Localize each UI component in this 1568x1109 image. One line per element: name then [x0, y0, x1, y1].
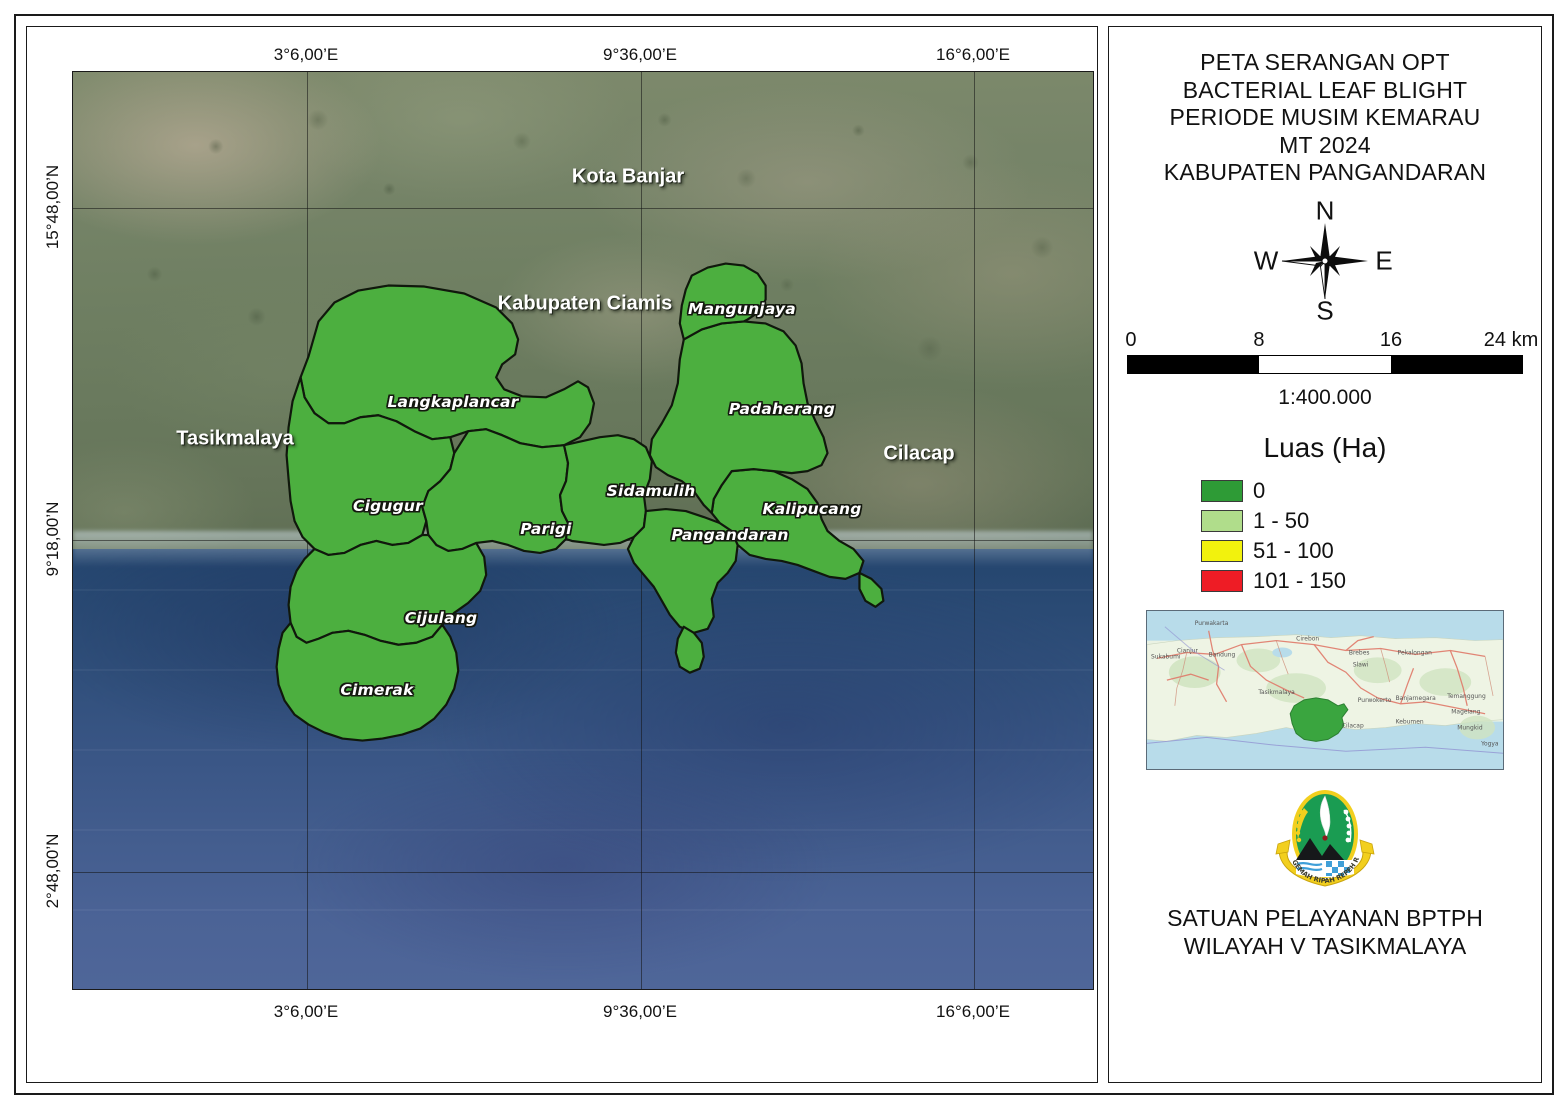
coord-left-0: 15°48,00’N [43, 165, 63, 249]
coord-top-0: 3°6,00’E [274, 45, 338, 65]
map-title-line-1: BACTERIAL LEAF BLIGHT [1109, 77, 1541, 105]
scale-bar [1127, 355, 1523, 374]
svg-text:Pekalongan: Pekalongan [1398, 649, 1433, 656]
kalipucang-coastal-spit [859, 573, 883, 607]
scale-ratio: 1:400.000 [1127, 386, 1523, 410]
compass-rose-icon: N S W E [1250, 201, 1400, 321]
district-cijulang [289, 535, 487, 645]
map-title-line-2: PERIODE MUSIM KEMARAU [1109, 104, 1541, 132]
svg-text:Yogya: Yogya [1480, 740, 1499, 747]
legend-row-2[interactable]: 51 - 100 [1201, 536, 1541, 566]
coord-bottom-0: 3°6,00’E [274, 1002, 338, 1022]
compass-west-label: W [1254, 245, 1279, 276]
inset-map[interactable]: Bandung Cirebon Tasikmalaya Brebes Slawi… [1146, 610, 1504, 770]
scale-segment-0 [1128, 356, 1259, 373]
compass-north-label: N [1316, 195, 1335, 226]
map-title-line-4: KABUPATEN PANGANDARAN [1109, 159, 1541, 187]
svg-text:Purwokerto: Purwokerto [1358, 697, 1392, 704]
svg-text:Cilacap: Cilacap [1342, 723, 1364, 730]
scale-tick-labels: 081624 km [1127, 329, 1523, 353]
scale-tick-3: 24 km [1484, 329, 1538, 352]
svg-text:Tasikmalaya: Tasikmalaya [1257, 689, 1295, 696]
legend-items: 01 - 5051 - 100101 - 150 [1109, 476, 1541, 596]
district-pangandaran [628, 509, 738, 633]
district-polygons [73, 72, 1093, 989]
coord-bottom-1: 9°36,00’E [603, 1002, 677, 1022]
legend-swatch-1 [1201, 510, 1243, 532]
coord-left-1: 9°18,00’N [43, 502, 63, 577]
svg-text:Magelang: Magelang [1451, 709, 1480, 716]
coord-left-2: 2°48,00’N [43, 834, 63, 909]
compass-container: N S W E [1109, 201, 1541, 321]
legend-swatch-2 [1201, 540, 1243, 562]
legend-row-1[interactable]: 1 - 50 [1201, 506, 1541, 536]
coord-top-1: 9°36,00’E [603, 45, 677, 65]
map-panel: Kota BanjarKabupaten CiamisTasikmalayaCi… [26, 26, 1098, 1083]
svg-text:Bandung: Bandung [1209, 651, 1236, 658]
legend-swatch-3 [1201, 570, 1243, 592]
footer-line-0: SATUAN PELAYANAN BPTPH [1109, 904, 1541, 932]
legend-label-1: 1 - 50 [1253, 508, 1309, 534]
district-cimerak [277, 623, 459, 741]
svg-text:Temanggung: Temanggung [1446, 693, 1486, 700]
map-canvas[interactable]: Kota BanjarKabupaten CiamisTasikmalayaCi… [72, 71, 1094, 990]
scale-tick-0: 0 [1125, 329, 1136, 352]
compass-south-label: S [1316, 295, 1333, 326]
legend-label-0: 0 [1253, 478, 1265, 504]
map-outer-frame: Kota BanjarKabupaten CiamisTasikmalayaCi… [14, 14, 1554, 1095]
info-panel: PETA SERANGAN OPTBACTERIAL LEAF BLIGHTPE… [1108, 26, 1542, 1083]
scale-segment-2 [1391, 356, 1522, 373]
svg-text:Slawi: Slawi [1353, 661, 1369, 668]
svg-text:Cirebon: Cirebon [1296, 636, 1319, 643]
compass-east-label: E [1375, 245, 1392, 276]
scale-tick-1: 8 [1253, 329, 1264, 352]
scale-bar-container: 081624 km 1:400.000 [1109, 329, 1541, 410]
footer-organization: SATUAN PELAYANAN BPTPHWILAYAH V TASIKMAL… [1109, 904, 1541, 960]
svg-text:Kebumen: Kebumen [1396, 719, 1424, 726]
scale-tick-2: 16 [1380, 329, 1402, 352]
svg-text:Purwakarta: Purwakarta [1195, 620, 1229, 627]
legend-title: Luas (Ha) [1109, 432, 1541, 464]
pangandaran-peninsula [676, 627, 704, 673]
svg-text:Brebes: Brebes [1349, 649, 1370, 656]
coord-top-2: 16°6,00’E [936, 45, 1010, 65]
district-sidamulih [560, 435, 652, 545]
west-java-provincial-emblem: GEMAH RIPAH REPEH RAPIH [1270, 782, 1380, 894]
map-title-line-0: PETA SERANGAN OPT [1109, 49, 1541, 77]
scale-segment-1 [1259, 356, 1390, 373]
legend-row-3[interactable]: 101 - 150 [1201, 566, 1541, 596]
legend-label-3: 101 - 150 [1253, 568, 1346, 594]
footer-line-1: WILAYAH V TASIKMALAYA [1109, 932, 1541, 960]
svg-text:Mungkid: Mungkid [1457, 724, 1483, 731]
svg-text:Sukabumi: Sukabumi [1151, 653, 1181, 660]
svg-text:Banjarnegara: Banjarnegara [1396, 695, 1437, 702]
map-title: PETA SERANGAN OPTBACTERIAL LEAF BLIGHTPE… [1109, 49, 1541, 187]
coord-bottom-2: 16°6,00’E [936, 1002, 1010, 1022]
map-title-line-3: MT 2024 [1109, 132, 1541, 160]
legend-label-2: 51 - 100 [1253, 538, 1334, 564]
legend-swatch-0 [1201, 480, 1243, 502]
legend-row-0[interactable]: 0 [1201, 476, 1541, 506]
